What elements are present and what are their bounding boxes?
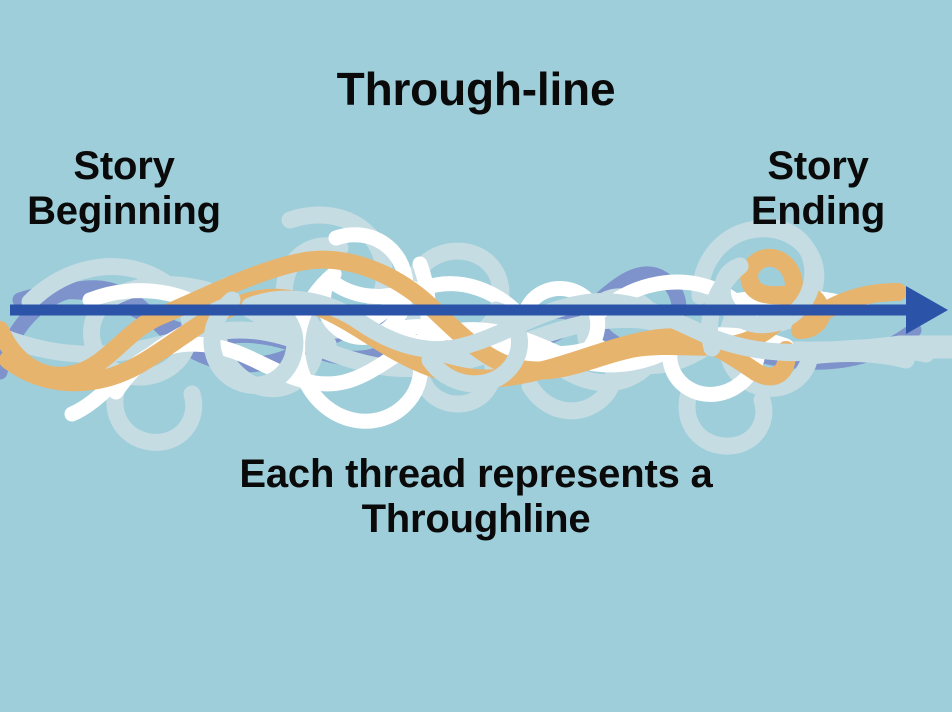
label-story-ending: Story Ending (698, 144, 938, 234)
page-title: Through-line (0, 64, 952, 116)
through-line-arrowhead (906, 286, 948, 334)
label-story-beginning: Story Beginning (8, 144, 240, 234)
slide-canvas: Through-line Story Beginning Story Endin… (0, 0, 952, 712)
caption-each-thread: Each thread represents a Throughline (0, 452, 952, 542)
